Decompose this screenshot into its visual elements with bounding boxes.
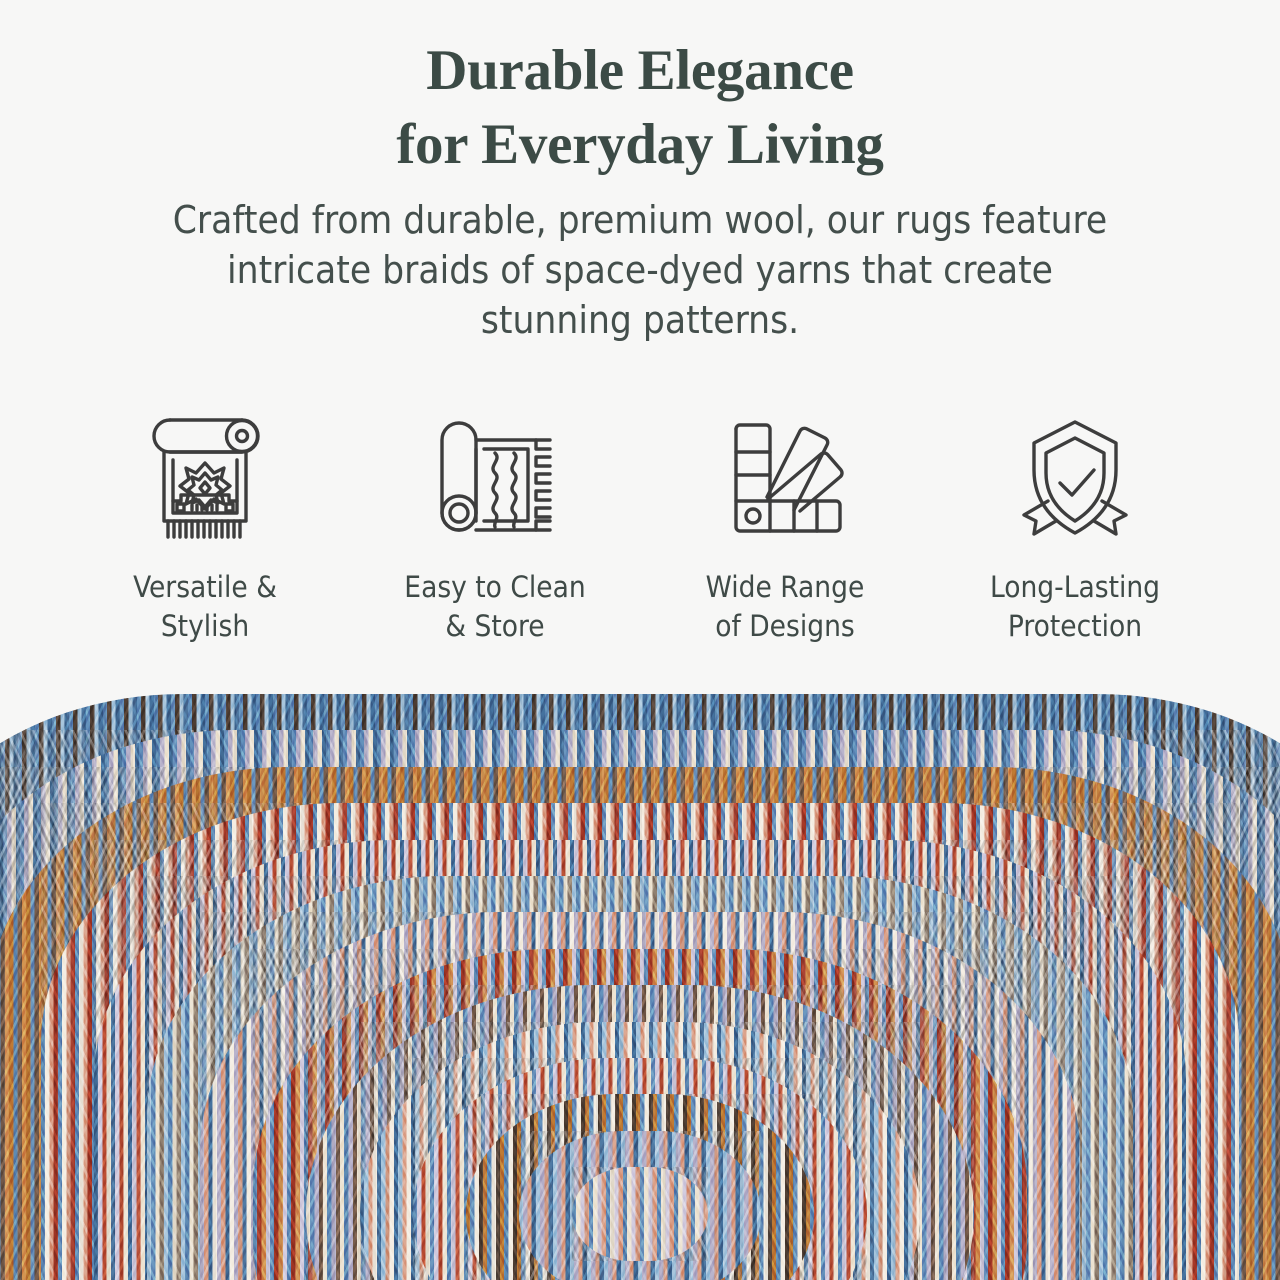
- feature-list: Versatile & Stylish: [60, 404, 1220, 646]
- feature-item-long-lasting-protection: Long-Lasting Protection: [930, 404, 1220, 646]
- feature-caption: Long-Lasting Protection: [990, 568, 1160, 646]
- subtitle: Crafted from durable, premium wool, our …: [65, 196, 1215, 346]
- subtitle-line-3: stunning patterns.: [65, 296, 1215, 346]
- rug-roll-pattern-icon: [131, 404, 279, 552]
- feature-caption-line-2: & Store: [404, 607, 585, 646]
- rug-band: [572, 1167, 708, 1261]
- braided-oval-wool-rug: [0, 694, 1280, 1280]
- feature-caption: Versatile & Stylish: [133, 568, 277, 646]
- yarn-fleck-texture: [572, 1167, 708, 1261]
- feature-caption: Easy to Clean & Store: [404, 568, 585, 646]
- marketing-banner: Durable Elegance for Everyday Living Cra…: [0, 0, 1280, 1280]
- feature-item-wide-range-designs: Wide Range of Designs: [640, 404, 930, 646]
- shield-check-ribbon-icon: [1001, 404, 1149, 552]
- feature-caption: Wide Range of Designs: [706, 568, 865, 646]
- color-swatch-fan-icon: [711, 404, 859, 552]
- subtitle-line-1: Crafted from durable, premium wool, our …: [65, 196, 1215, 246]
- feature-item-easy-clean-store: Easy to Clean & Store: [350, 404, 640, 646]
- subtitle-line-2: intricate braids of space-dyed yarns tha…: [65, 246, 1215, 296]
- feature-item-versatile-stylish: Versatile & Stylish: [60, 404, 350, 646]
- feature-caption-line-2: Protection: [990, 607, 1160, 646]
- rolled-rug-icon: [421, 404, 569, 552]
- feature-caption-line-1: Easy to Clean: [404, 568, 585, 607]
- feature-caption-line-2: Stylish: [133, 607, 277, 646]
- headline-line-2: for Everyday Living: [0, 108, 1280, 182]
- feature-caption-line-1: Versatile &: [133, 568, 277, 607]
- feature-caption-line-1: Wide Range: [706, 568, 865, 607]
- page-title: Durable Elegance for Everyday Living: [0, 34, 1280, 181]
- feature-caption-line-1: Long-Lasting: [990, 568, 1160, 607]
- product-image-area: [0, 672, 1280, 1280]
- headline-line-1: Durable Elegance: [426, 39, 853, 102]
- feature-caption-line-2: of Designs: [706, 607, 865, 646]
